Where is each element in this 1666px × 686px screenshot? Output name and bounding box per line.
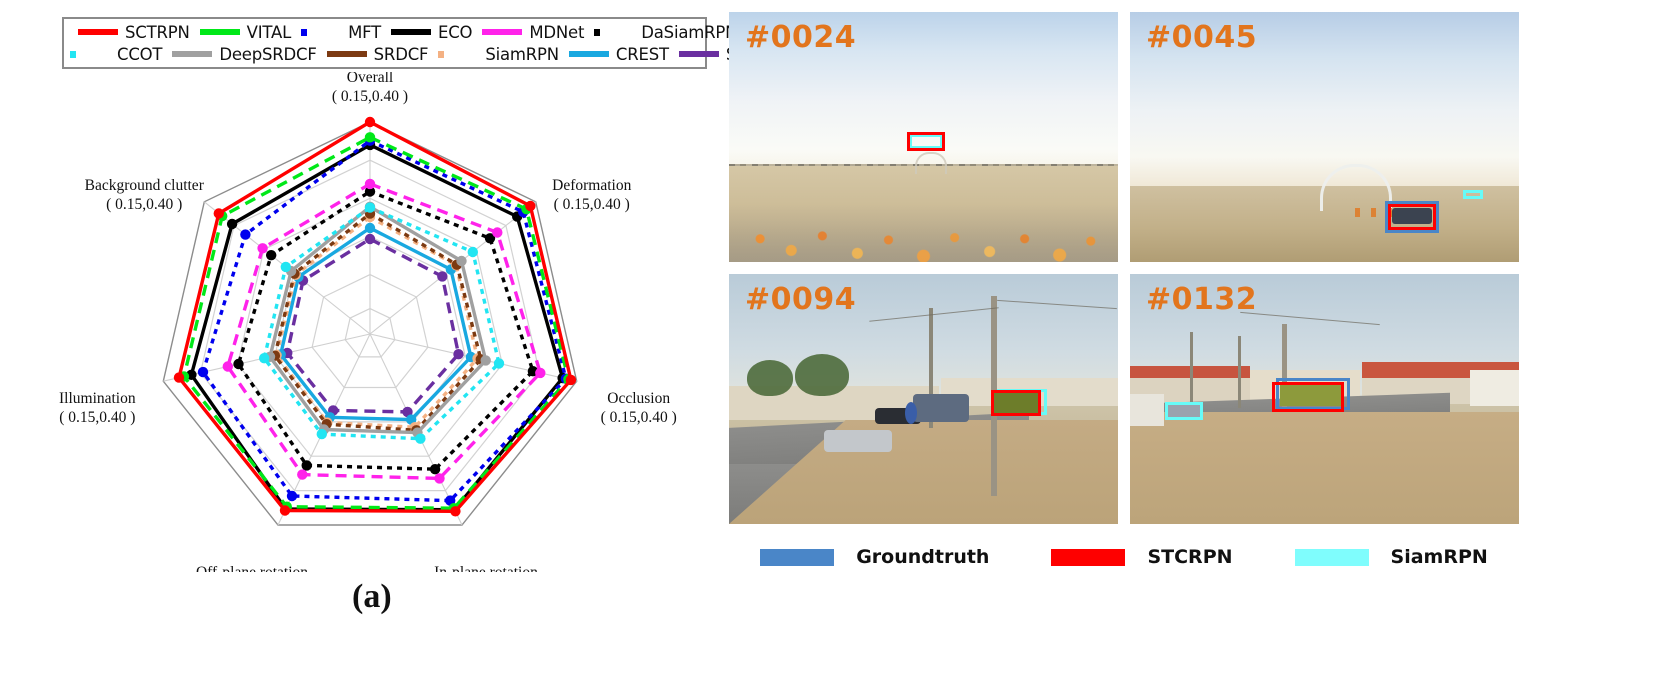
radar-data-point xyxy=(481,355,491,365)
bbox-stcrpn-0094 xyxy=(991,390,1041,416)
legend-label-mdnet: MDNet xyxy=(529,23,584,42)
radar-axis-label-illumination: Illumination xyxy=(59,390,136,407)
radar-plot: Overall( 0.15,0.40 )Deformation( 0.15,0.… xyxy=(20,72,720,572)
radar-axis-label-occlusion: Occlusion xyxy=(607,390,670,407)
radar-axis-label-overall: Overall xyxy=(347,72,393,86)
bbox-siamrpn-0132 xyxy=(1165,402,1203,420)
radar-data-point xyxy=(365,202,375,212)
legend-entry-siamrpn[interactable]: SiamRPN xyxy=(438,45,559,64)
scene-pole-4 xyxy=(1238,336,1241,408)
figure-root: SCTRPNVITALMFTECOMDNetDaSiamRPN CCOTDeep… xyxy=(0,0,1666,686)
legend-swatch-crest xyxy=(569,51,609,57)
radar-axis-range-deformation: ( 0.15,0.40 ) xyxy=(554,196,630,213)
legend-label-vital: VITAL xyxy=(247,23,291,42)
radar-data-point xyxy=(281,262,291,272)
frame-0132[interactable]: #0132 xyxy=(1130,274,1519,524)
frames-legend-entry-groundtruth: Groundtruth xyxy=(760,546,989,568)
frames-legend: GroundtruthSTCRPNSiamRPN xyxy=(729,540,1519,574)
radar-data-point xyxy=(525,201,535,211)
radar-data-point xyxy=(365,117,375,127)
legend-swatch-eco xyxy=(391,29,431,35)
legend-swatch-siamfc xyxy=(679,51,719,57)
bbox-stcrpn-0045 xyxy=(1388,204,1436,230)
radar-axis-label-deformation: Deformation xyxy=(552,177,631,194)
frame-0024[interactable]: #0024 xyxy=(729,12,1118,262)
scene-flowers xyxy=(729,204,1118,262)
radar-data-point xyxy=(535,368,545,378)
frames-legend-swatch-groundtruth xyxy=(760,549,834,566)
radar-data-point xyxy=(494,358,504,368)
radar-data-point xyxy=(437,271,447,281)
frames-legend-entry-stcrpn: STCRPN xyxy=(1051,546,1232,568)
frames-legend-swatch-stcrpn xyxy=(1051,549,1125,566)
legend-label-deepsrdcf: DeepSRDCF xyxy=(219,45,316,64)
radar-data-point xyxy=(430,464,440,474)
radar-data-point xyxy=(453,349,463,359)
legend-entry-deepsrdcf[interactable]: DeepSRDCF xyxy=(172,45,316,64)
chart-legend: SCTRPNVITALMFTECOMDNetDaSiamRPN CCOTDeep… xyxy=(62,17,707,69)
radar-data-point xyxy=(240,229,250,239)
radar-series-line xyxy=(239,192,533,470)
frame-0094[interactable]: #0094 xyxy=(729,274,1118,524)
radar-data-point xyxy=(259,353,269,363)
legend-entry-srdcf[interactable]: SRDCF xyxy=(327,45,429,64)
legend-entry-eco[interactable]: ECO xyxy=(391,23,472,42)
scene-kite-arch xyxy=(915,152,947,174)
frames-legend-label-stcrpn: STCRPN xyxy=(1147,546,1232,568)
radar-data-point xyxy=(280,505,290,515)
radar-axis-label-off-plane-rotation: Off-plane rotation xyxy=(196,564,308,572)
frame-tag-0045: #0045 xyxy=(1146,20,1257,55)
legend-entry-ccot[interactable]: CCOT xyxy=(70,45,162,64)
radar-data-point xyxy=(365,234,375,244)
frames-legend-swatch-siamrpn xyxy=(1295,549,1369,566)
radar-axis-range-overall: ( 0.15,0.40 ) xyxy=(332,88,408,105)
scene-truck xyxy=(913,394,969,422)
bbox-siamrpn-0045 xyxy=(1463,190,1483,199)
legend-entry-sctrpn[interactable]: SCTRPN xyxy=(78,23,190,42)
radar-axis-range-background-clutter: ( 0.15,0.40 ) xyxy=(106,196,182,213)
radar-axis-label-background-clutter: Background clutter xyxy=(85,177,205,194)
legend-swatch-mdnet xyxy=(482,29,522,35)
legend-label-srdcf: SRDCF xyxy=(374,45,429,64)
legend-entry-mdnet[interactable]: MDNet xyxy=(482,23,584,42)
scene-pole-3 xyxy=(1190,332,1193,408)
panel-b-qualitative-frames: #0024 #0045 xyxy=(720,0,1666,686)
scene-dirt-2 xyxy=(1130,412,1519,524)
frame-tag-0024: #0024 xyxy=(745,20,856,55)
radar-data-point xyxy=(468,247,478,257)
legend-swatch-mft xyxy=(301,29,341,36)
radar-data-point xyxy=(450,506,460,516)
radar-data-point xyxy=(287,491,297,501)
frame-grid: #0024 #0045 xyxy=(729,12,1519,525)
legend-entry-mft[interactable]: MFT xyxy=(301,23,381,42)
frame-0045[interactable]: #0045 xyxy=(1130,12,1519,262)
chart-legend-row-1: SCTRPNVITALMFTECOMDNetDaSiamRPN xyxy=(70,21,699,43)
legend-label-eco: ECO xyxy=(438,23,472,42)
radar-axis-range-occlusion: ( 0.15,0.40 ) xyxy=(601,409,677,426)
radar-data-point xyxy=(233,359,243,369)
radar-data-point xyxy=(266,250,276,260)
legend-label-ccot: CCOT xyxy=(117,45,162,64)
radar-data-point xyxy=(302,460,312,470)
radar-data-point xyxy=(297,469,307,479)
legend-swatch-siamrpn xyxy=(438,51,478,58)
radar-data-point xyxy=(174,372,184,382)
radar-svg: Overall( 0.15,0.40 )Deformation( 0.15,0.… xyxy=(20,72,720,572)
radar-data-point xyxy=(223,361,233,371)
legend-swatch-sctrpn xyxy=(78,29,118,35)
scene-tree-1 xyxy=(747,360,793,396)
radar-data-point xyxy=(227,219,237,229)
radar-data-point xyxy=(365,132,375,142)
radar-data-point xyxy=(257,243,267,253)
bbox-stcrpn-0132 xyxy=(1272,382,1344,412)
frames-legend-entry-siamrpn: SiamRPN xyxy=(1295,546,1488,568)
legend-label-crest: CREST xyxy=(616,45,669,64)
scene-car-1 xyxy=(824,430,892,452)
radar-axis-label-in-plane-rotation: In-plane rotation xyxy=(434,564,538,572)
radar-data-point xyxy=(317,429,327,439)
radar-data-point xyxy=(415,434,425,444)
legend-label-siamrpn: SiamRPN xyxy=(485,45,559,64)
legend-swatch-dasiamrpn xyxy=(594,29,634,36)
legend-label-sctrpn: SCTRPN xyxy=(125,23,190,42)
frames-legend-label-siamrpn: SiamRPN xyxy=(1391,546,1488,568)
bbox-stcrpn-0024 xyxy=(907,132,945,151)
legend-entry-dasiamrpn[interactable]: DaSiamRPN xyxy=(594,23,737,42)
radar-data-point xyxy=(214,208,224,218)
radar-data-point xyxy=(456,256,466,266)
chart-legend-row-2: CCOTDeepSRDCFSRDCFSiamRPNCRESTSiamFC xyxy=(70,43,699,65)
radar-data-point xyxy=(566,375,576,385)
legend-swatch-deepsrdcf xyxy=(172,51,212,57)
scene-box-left xyxy=(1130,394,1164,426)
frames-legend-label-groundtruth: Groundtruth xyxy=(856,546,989,568)
scene-sign-blue xyxy=(905,402,917,424)
legend-entry-vital[interactable]: VITAL xyxy=(200,23,291,42)
legend-entry-crest[interactable]: CREST xyxy=(569,45,669,64)
legend-swatch-ccot xyxy=(70,51,110,58)
radar-data-point xyxy=(365,223,375,233)
legend-swatch-vital xyxy=(200,29,240,35)
legend-swatch-srdcf xyxy=(327,51,367,57)
radar-data-point xyxy=(365,179,375,189)
frame-tag-0132: #0132 xyxy=(1146,282,1257,317)
subcaption-a: (a) xyxy=(352,578,392,616)
radar-series-line xyxy=(179,122,571,511)
radar-data-point xyxy=(492,227,502,237)
scene-tree-2 xyxy=(795,354,849,396)
panel-a-radar-chart: SCTRPNVITALMFTECOMDNetDaSiamRPN CCOTDeep… xyxy=(0,0,720,686)
radar-data-point xyxy=(434,473,444,483)
frame-tag-0094: #0094 xyxy=(745,282,856,317)
legend-label-mft: MFT xyxy=(348,23,381,42)
radar-data-point xyxy=(198,367,208,377)
radar-axis-range-illumination: ( 0.15,0.40 ) xyxy=(59,409,135,426)
scene-white-bldg xyxy=(1470,370,1519,406)
